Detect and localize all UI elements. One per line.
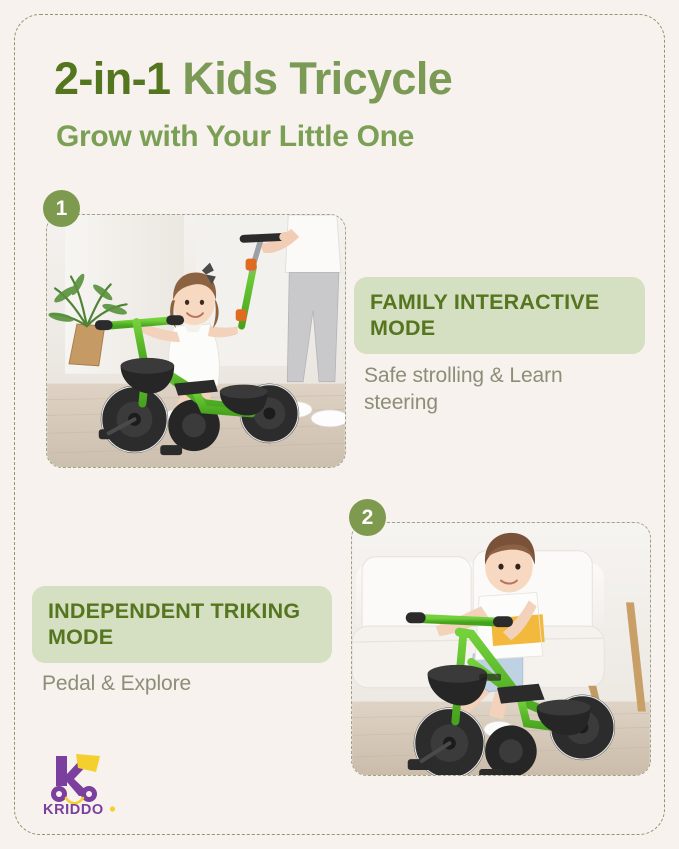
- kriddo-wordmark: KRIDDO: [43, 802, 115, 818]
- kriddo-mark-icon: [51, 754, 100, 803]
- page-title-light: Kids Tricycle: [182, 53, 452, 104]
- mode-caption-independent: Pedal & Explore: [42, 670, 332, 697]
- product-photo-independent-mode: [351, 522, 651, 776]
- kriddo-logo: KRIDDO: [40, 752, 124, 818]
- page-title: 2-in-1 Kids Tricycle: [54, 55, 634, 102]
- page-title-strong: 2-in-1: [54, 53, 170, 104]
- mode-label-family: FAMILY INTERACTIVE MODE: [354, 277, 645, 354]
- step-badge-2: 2: [349, 499, 386, 536]
- step-badge-1: 1: [43, 190, 80, 227]
- page-subtitle: Grow with Your Little One: [56, 120, 636, 154]
- mode-label-independent: INDEPENDENT TRIKING MODE: [32, 586, 332, 663]
- mode-caption-family: Safe strolling & Learn steering: [364, 362, 639, 417]
- product-photo-family-mode: [46, 214, 346, 468]
- svg-text:KRIDDO: KRIDDO: [43, 802, 104, 818]
